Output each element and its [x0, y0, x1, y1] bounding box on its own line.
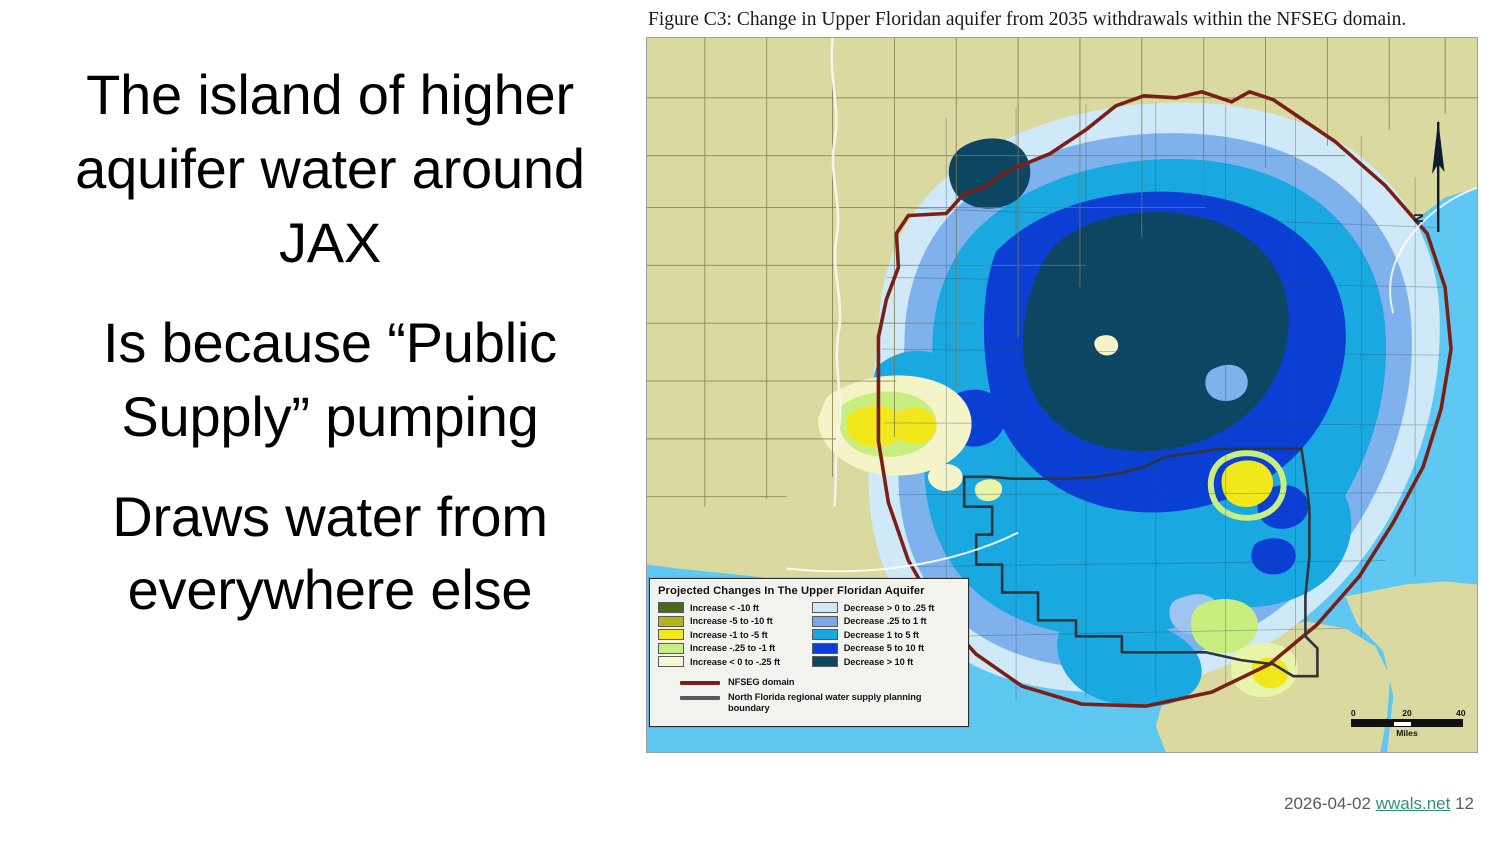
legend-label: Increase < 0 to -.25 ft: [690, 657, 780, 667]
scale-bar: 0 20 40 Miles: [1351, 708, 1463, 738]
aquifer-map[interactable]: N 0 20 40 Miles Projected Changes In The…: [646, 37, 1478, 753]
slide-footer: 2026-04-02 wwals.net 12: [1284, 794, 1474, 814]
legend-label: Increase -5 to -10 ft: [690, 616, 773, 626]
legend-item-decrease-1-to-5: Decrease 1 to 5 ft: [812, 629, 960, 640]
scale-bar-graphic: [1351, 719, 1463, 727]
legend-swatch: [658, 643, 684, 654]
scale-tick-40: 40: [1456, 708, 1466, 718]
legend-swatch: [812, 602, 838, 613]
legend-label: Decrease .25 to 1 ft: [844, 616, 927, 626]
contour-blue-blob-east-2: [1251, 538, 1295, 574]
legend-label: Decrease > 10 ft: [844, 657, 913, 667]
legend-label: NFSEG domain: [728, 677, 794, 688]
figure-caption: Figure C3: Change in Upper Floridan aqui…: [648, 8, 1480, 31]
bullet-text-column: The island of higher aquifer water aroun…: [30, 58, 630, 627]
legend-label: Decrease > 0 to .25 ft: [844, 603, 935, 613]
legend-label: Increase -.25 to -1 ft: [690, 643, 775, 653]
legend-swatch: [658, 656, 684, 667]
legend-swatch: [658, 616, 684, 627]
legend-item-increase-lt0-to-neg025: Increase < 0 to -.25 ft: [658, 656, 806, 667]
scale-tick-20: 20: [1402, 708, 1412, 718]
legend-swatch: [812, 616, 838, 627]
bullet-2: Is because “Public Supply” pumping: [30, 306, 630, 454]
legend-item-increase-neg1-to-neg5: Increase -1 to -5 ft: [658, 629, 806, 640]
footer-date: 2026-04-02: [1284, 794, 1371, 813]
legend-label: Increase -1 to -5 ft: [690, 630, 768, 640]
legend-title: Projected Changes In The Upper Floridan …: [658, 585, 960, 597]
legend-item-increase-neg5-to-neg10: Increase -5 to -10 ft: [658, 616, 806, 627]
legend-item-increase-neg025-to-neg1: Increase -.25 to -1 ft: [658, 643, 806, 654]
bullet-3: Draws water from everywhere else: [30, 480, 630, 628]
figure-container: Figure C3: Change in Upper Floridan aqui…: [646, 8, 1480, 774]
legend-swatch: [658, 629, 684, 640]
legend-label: Decrease 1 to 5 ft: [844, 630, 919, 640]
legend-swatch: [812, 656, 838, 667]
legend-label: North Florida regional water supply plan…: [728, 692, 960, 715]
legend-item-decrease-gt-10: Decrease > 10 ft: [812, 656, 960, 667]
legend-columns: Increase < -10 ft Increase -5 to -10 ft …: [658, 602, 960, 670]
bullet-1: The island of higher aquifer water aroun…: [30, 58, 630, 280]
legend-line-symbols: NFSEG domain North Florida regional wate…: [658, 677, 960, 715]
legend-line-swatch-nfseg: [680, 681, 720, 685]
north-arrow-icon: N: [1411, 116, 1455, 236]
legend-label: Increase < -10 ft: [690, 603, 759, 613]
scale-tick-0: 0: [1351, 708, 1356, 718]
north-arrow-label: N: [1411, 213, 1426, 222]
scale-bar-ticks: 0 20 40: [1351, 708, 1463, 719]
footer-page-number: 12: [1455, 794, 1474, 813]
legend-item-nfseg-domain: NFSEG domain: [680, 677, 960, 688]
legend-swatch: [658, 602, 684, 613]
legend-item-decrease-025-to-1: Decrease .25 to 1 ft: [812, 616, 960, 627]
legend-column-decrease: Decrease > 0 to .25 ft Decrease .25 to 1…: [812, 602, 960, 670]
legend-swatch: [812, 629, 838, 640]
legend-item-planning-boundary: North Florida regional water supply plan…: [680, 692, 960, 715]
map-legend[interactable]: Projected Changes In The Upper Floridan …: [649, 578, 969, 727]
scale-bar-units: Miles: [1351, 728, 1463, 738]
legend-item-increase-lt-neg10: Increase < -10 ft: [658, 602, 806, 613]
legend-line-swatch-planning: [680, 696, 720, 700]
slide-root: The island of higher aquifer water aroun…: [0, 0, 1500, 844]
legend-label: Decrease 5 to 10 ft: [844, 643, 924, 653]
footer-link[interactable]: wwals.net: [1376, 794, 1451, 813]
legend-item-decrease-5-to-10: Decrease 5 to 10 ft: [812, 643, 960, 654]
legend-swatch: [812, 643, 838, 654]
legend-column-increase: Increase < -10 ft Increase -5 to -10 ft …: [658, 602, 806, 670]
legend-item-decrease-0-to-025: Decrease > 0 to .25 ft: [812, 602, 960, 613]
